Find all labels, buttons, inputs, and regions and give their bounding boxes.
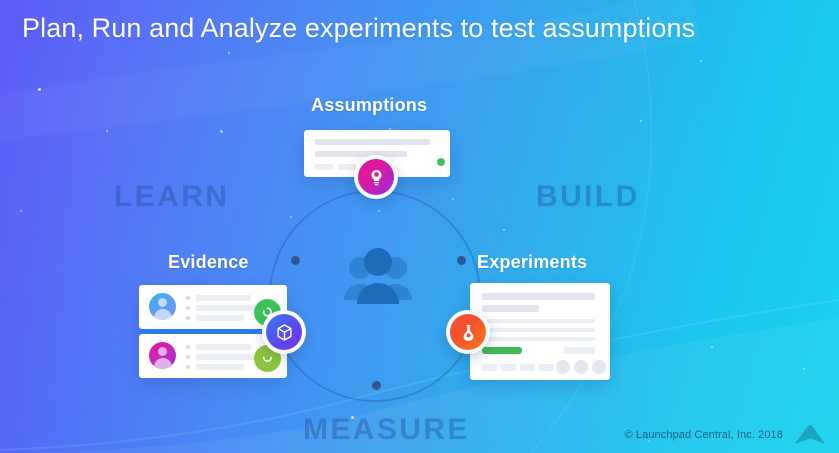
card-avatar-circle xyxy=(556,360,570,374)
star-speck xyxy=(640,120,642,122)
star-speck xyxy=(220,130,223,133)
experiments-card[interactable] xyxy=(470,283,610,380)
assumptions-badge[interactable] xyxy=(354,155,398,199)
ring-node-dot xyxy=(457,256,466,265)
ring-node-dot xyxy=(291,256,300,265)
card-chip xyxy=(539,364,554,371)
lightbulb-icon xyxy=(358,159,394,195)
card-chip xyxy=(338,164,356,170)
star-speck xyxy=(803,368,805,370)
card-chip xyxy=(315,164,333,170)
card-line xyxy=(315,151,407,157)
star-speck xyxy=(290,216,292,218)
bullet-dot xyxy=(186,345,190,349)
card-line xyxy=(196,295,251,301)
bullet-dot xyxy=(186,296,190,300)
experiments-badge[interactable] xyxy=(446,310,490,354)
card-chip xyxy=(520,364,535,371)
stage-label-measure: MEASURE xyxy=(303,413,470,447)
stage-label-learn: LEARN xyxy=(114,180,229,214)
star-speck xyxy=(20,210,22,212)
avatar xyxy=(149,293,176,320)
page-title: Plan, Run and Analyze experiments to tes… xyxy=(22,10,695,46)
node-label-assumptions: Assumptions xyxy=(311,95,427,116)
node-label-evidence: Evidence xyxy=(168,252,249,273)
flask-icon xyxy=(450,314,486,350)
card-line xyxy=(482,305,539,312)
star-speck xyxy=(106,130,108,132)
evidence-badge[interactable] xyxy=(262,310,306,354)
card-chip xyxy=(501,364,516,371)
cube-icon xyxy=(266,314,302,350)
card-line xyxy=(564,347,595,354)
card-line xyxy=(196,364,244,370)
star-speck xyxy=(452,198,454,200)
assumptions-status-dot xyxy=(437,158,445,166)
experiment-progress-bar xyxy=(482,347,522,354)
star-speck xyxy=(711,346,713,348)
bullet-dot xyxy=(186,306,190,310)
card-line xyxy=(482,293,595,300)
card-avatar-circle xyxy=(574,360,588,374)
avatar xyxy=(149,342,176,369)
bullet-dot xyxy=(186,355,190,359)
star-speck xyxy=(700,60,702,62)
card-line xyxy=(482,337,595,341)
card-line xyxy=(196,315,244,321)
card-line xyxy=(315,139,430,145)
ring-node-dot xyxy=(372,381,381,390)
chevron-up-logo[interactable] xyxy=(793,423,827,445)
star-speck xyxy=(503,229,505,231)
card-avatar-circle xyxy=(592,360,606,374)
star-speck xyxy=(38,88,41,91)
card-line xyxy=(196,354,259,360)
slide-canvas: Plan, Run and Analyze experiments to tes… xyxy=(0,0,839,453)
card-line xyxy=(482,328,595,332)
copyright-text: © Launchpad Central, Inc. 2018 xyxy=(625,429,784,441)
people-group-icon xyxy=(340,248,416,306)
card-chip xyxy=(482,364,497,371)
stage-label-build: BUILD xyxy=(536,180,640,214)
node-label-experiments: Experiments xyxy=(477,252,587,273)
card-line xyxy=(196,344,251,350)
card-line xyxy=(482,319,595,323)
bullet-dot xyxy=(186,316,190,320)
card-line xyxy=(196,305,259,311)
bullet-dot xyxy=(186,365,190,369)
star-speck xyxy=(228,52,230,54)
